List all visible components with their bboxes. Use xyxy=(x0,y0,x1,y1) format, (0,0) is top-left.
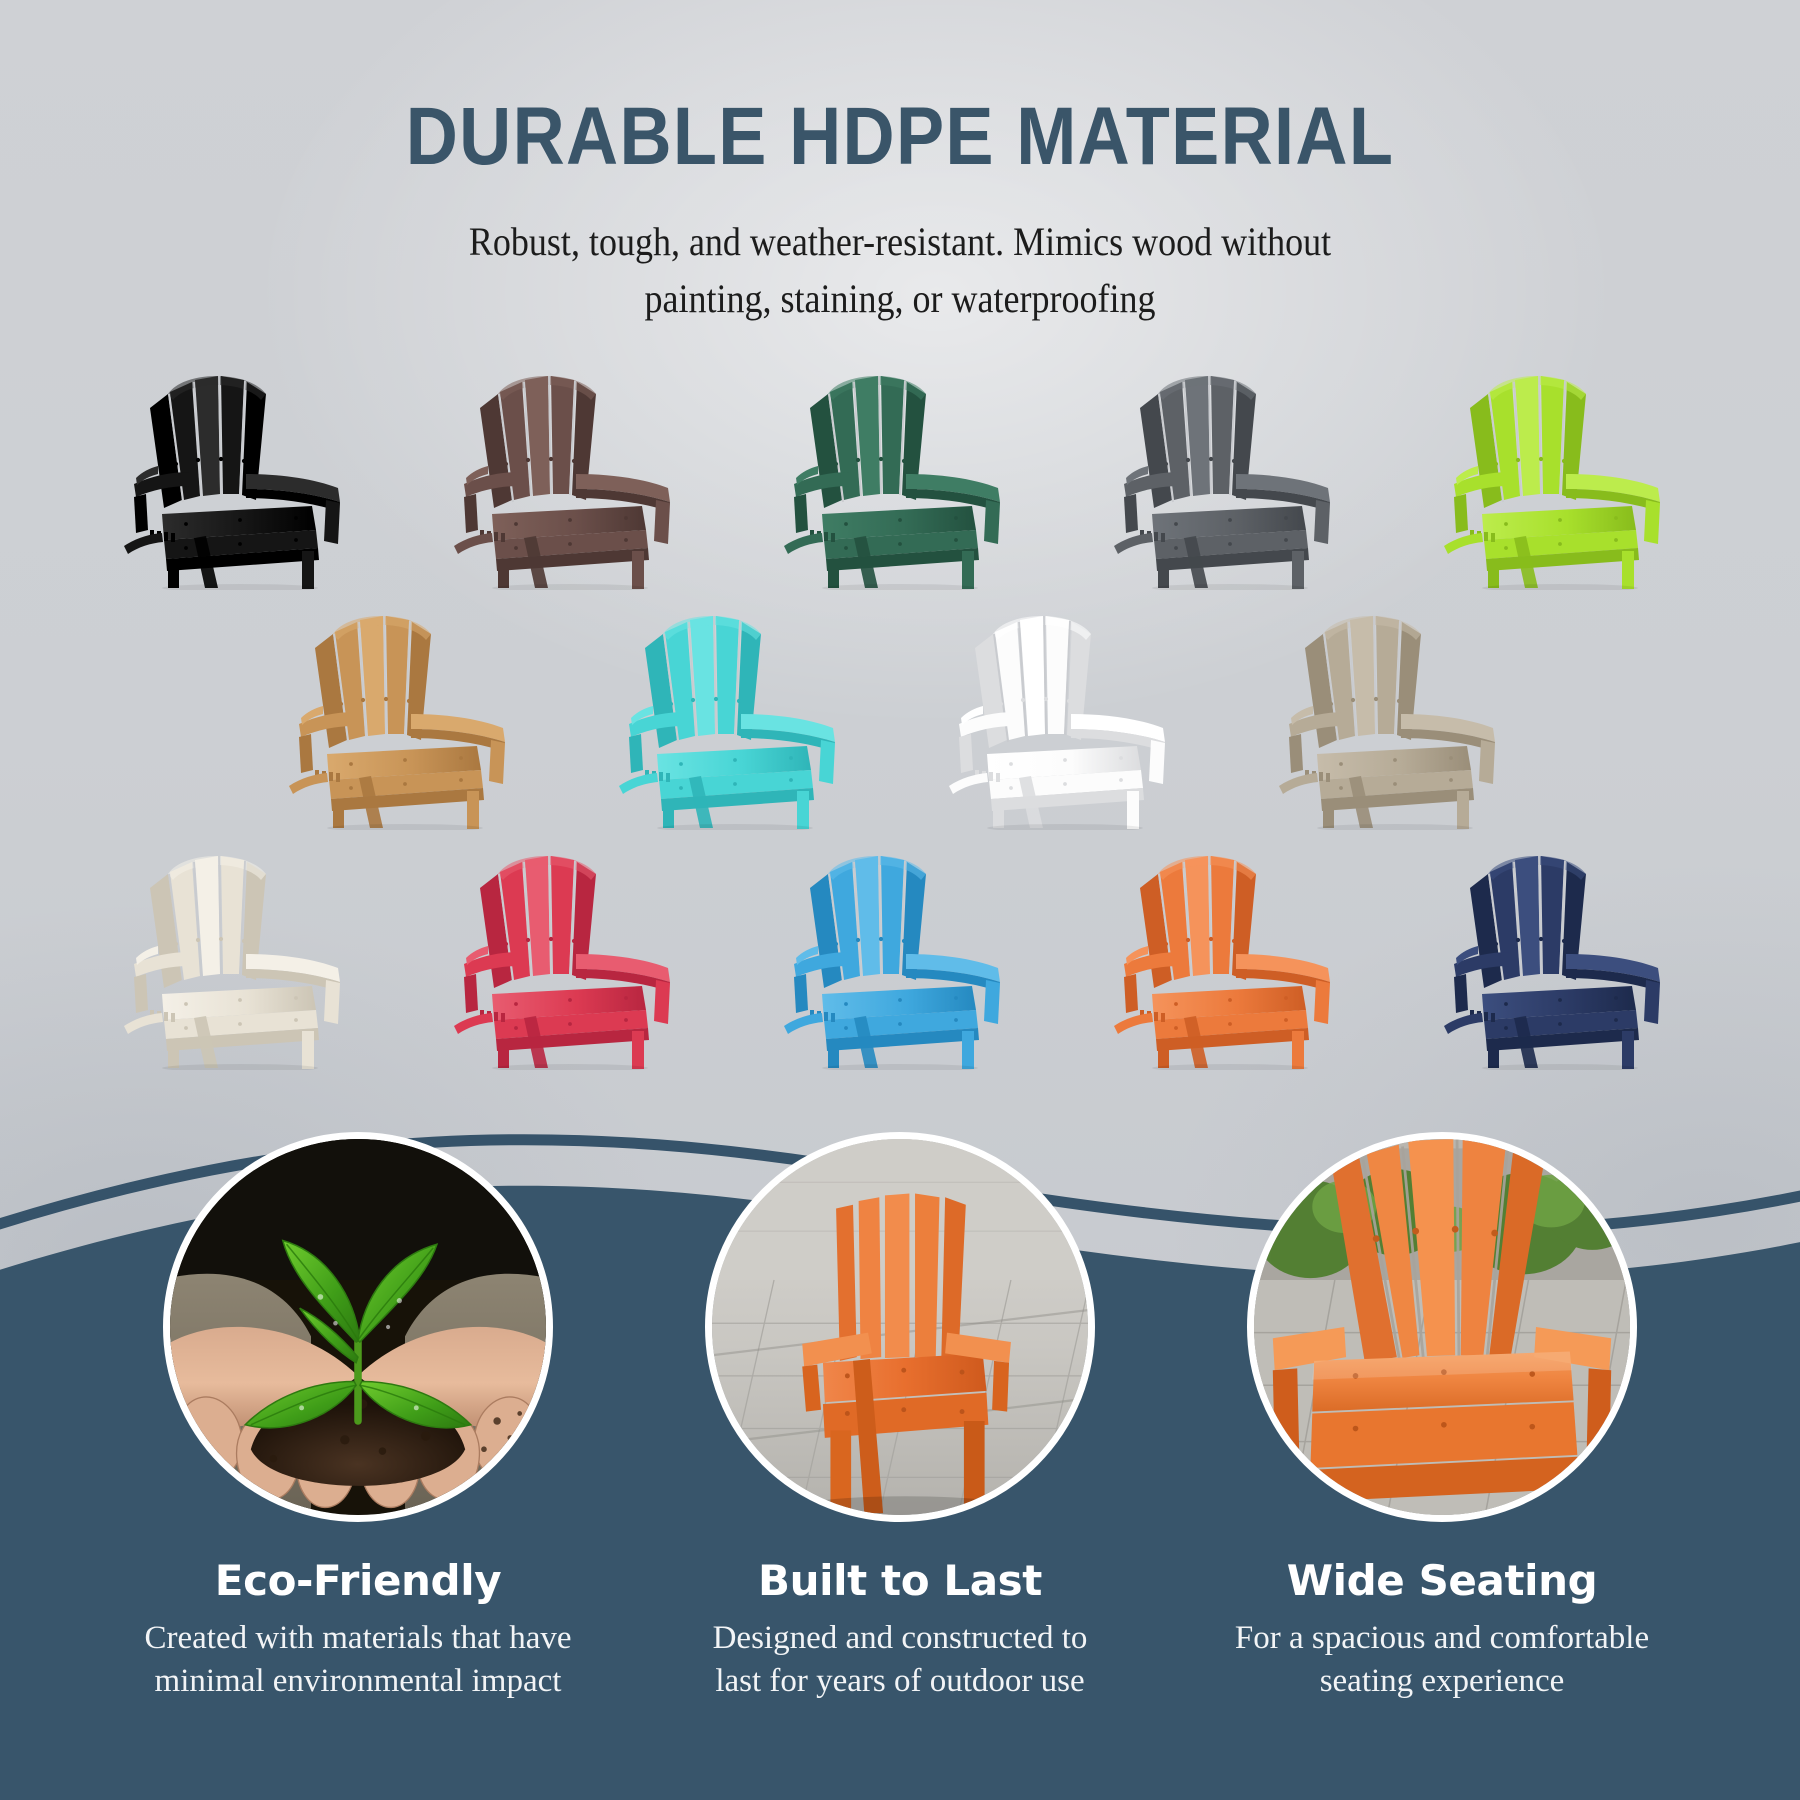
chair-swatch-orange[interactable] xyxy=(1087,822,1373,1070)
feature-image-circle xyxy=(163,1132,553,1522)
chair-swatch-dark-green[interactable] xyxy=(757,342,1043,590)
chair-swatch-gray[interactable] xyxy=(1087,342,1373,590)
chair-color-grid xyxy=(0,342,1800,1070)
adirondack-chair-svg xyxy=(766,348,1034,590)
chair-swatch-red[interactable] xyxy=(427,822,713,1070)
chair-left-stretcher xyxy=(949,773,988,794)
feature-image-circle xyxy=(1247,1132,1637,1522)
adirondack-chair-svg xyxy=(1096,348,1364,590)
subtitle-line-1: Robust, tough, and weather-resistant. Mi… xyxy=(90,214,1710,271)
feature-desc-line-1: For a spacious and comfortable xyxy=(1215,1617,1669,1660)
feature-title: Wide Seating xyxy=(1207,1556,1677,1605)
feature-wide-seating: Wide Seating For a spacious and comforta… xyxy=(1207,1132,1677,1703)
chair-left-stretcher xyxy=(1444,533,1483,554)
feature-section: Eco-Friendly Created with materials that… xyxy=(0,1132,1800,1703)
adirondack-chair-svg xyxy=(1261,588,1529,830)
feature-desc-line-2: seating experience xyxy=(1215,1660,1669,1703)
chair-left-stretcher xyxy=(454,1013,493,1034)
adirondack-chair-svg xyxy=(601,588,869,830)
page-title: DURABLE HDPE MATERIAL xyxy=(108,96,1692,178)
page-subtitle: Robust, tough, and weather-resistant. Mi… xyxy=(90,214,1710,328)
feature-description: Designed and constructed to last for yea… xyxy=(665,1617,1135,1703)
chair-left-stretcher xyxy=(1114,533,1153,554)
chair-row-2 xyxy=(0,582,1800,830)
chair-left-stretcher xyxy=(124,1013,163,1034)
feature-image-circle xyxy=(705,1132,1095,1522)
feature-built-to-last: Built to Last Designed and constructed t… xyxy=(665,1132,1135,1703)
feature-description: Created with materials that have minimal… xyxy=(123,1617,593,1703)
chair-swatch-black[interactable] xyxy=(97,342,383,590)
chair-left-stretcher xyxy=(124,533,163,554)
feature-desc-line-1: Created with materials that have xyxy=(131,1617,585,1660)
hands-holding-seedling-photo xyxy=(170,1139,546,1515)
chair-left-stretcher xyxy=(289,773,328,794)
chair-left-stretcher xyxy=(619,773,658,794)
infographic-canvas: DURABLE HDPE MATERIAL Robust, tough, and… xyxy=(0,0,1800,1800)
orange-chair-wide-seat-closeup-photo xyxy=(1254,1139,1630,1515)
chair-left-stretcher xyxy=(1279,773,1318,794)
orange-adirondack-chair-on-patio-photo xyxy=(712,1139,1088,1515)
adirondack-chair-svg xyxy=(106,828,374,1070)
feature-desc-line-1: Designed and constructed to xyxy=(673,1617,1127,1660)
chair-left-stretcher xyxy=(1444,1013,1483,1034)
adirondack-chair-svg xyxy=(436,828,704,1070)
adirondack-chair-svg xyxy=(436,348,704,590)
chair-swatch-ivory[interactable] xyxy=(97,822,383,1070)
chair-left-stretcher xyxy=(784,533,823,554)
adirondack-chair-svg xyxy=(931,588,1199,830)
chair-swatch-turquoise[interactable] xyxy=(592,582,878,830)
adirondack-chair-svg xyxy=(1426,828,1694,1070)
adirondack-chair-svg xyxy=(766,828,1034,1070)
chair-swatch-light-blue[interactable] xyxy=(757,822,1043,1070)
subtitle-line-2: painting, staining, or waterproofing xyxy=(90,271,1710,328)
chair-swatch-lime-green[interactable] xyxy=(1417,342,1703,590)
adirondack-chair-svg xyxy=(1096,828,1364,1070)
chair-row-1 xyxy=(0,342,1800,590)
feature-title: Built to Last xyxy=(665,1556,1135,1605)
feature-eco-friendly: Eco-Friendly Created with materials that… xyxy=(123,1132,593,1703)
header: DURABLE HDPE MATERIAL Robust, tough, and… xyxy=(0,0,1800,328)
adirondack-chair-svg xyxy=(1426,348,1694,590)
feature-title: Eco-Friendly xyxy=(123,1556,593,1605)
chair-swatch-white[interactable] xyxy=(922,582,1208,830)
chair-left-stretcher xyxy=(454,533,493,554)
feature-row: Eco-Friendly Created with materials that… xyxy=(0,1132,1800,1703)
chair-swatch-navy-blue[interactable] xyxy=(1417,822,1703,1070)
chair-row-3 xyxy=(0,822,1800,1070)
chair-left-stretcher xyxy=(1114,1013,1153,1034)
chair-left-stretcher xyxy=(784,1013,823,1034)
feature-desc-line-2: minimal environmental impact xyxy=(131,1660,585,1703)
adirondack-chair-svg xyxy=(106,348,374,590)
chair-swatch-brown[interactable] xyxy=(427,342,713,590)
feature-description: For a spacious and comfortable seating e… xyxy=(1207,1617,1677,1703)
chair-swatch-teak[interactable] xyxy=(262,582,548,830)
adirondack-chair-svg xyxy=(271,588,539,830)
feature-desc-line-2: last for years of outdoor use xyxy=(673,1660,1127,1703)
chair-swatch-weathered-wood[interactable] xyxy=(1252,582,1538,830)
